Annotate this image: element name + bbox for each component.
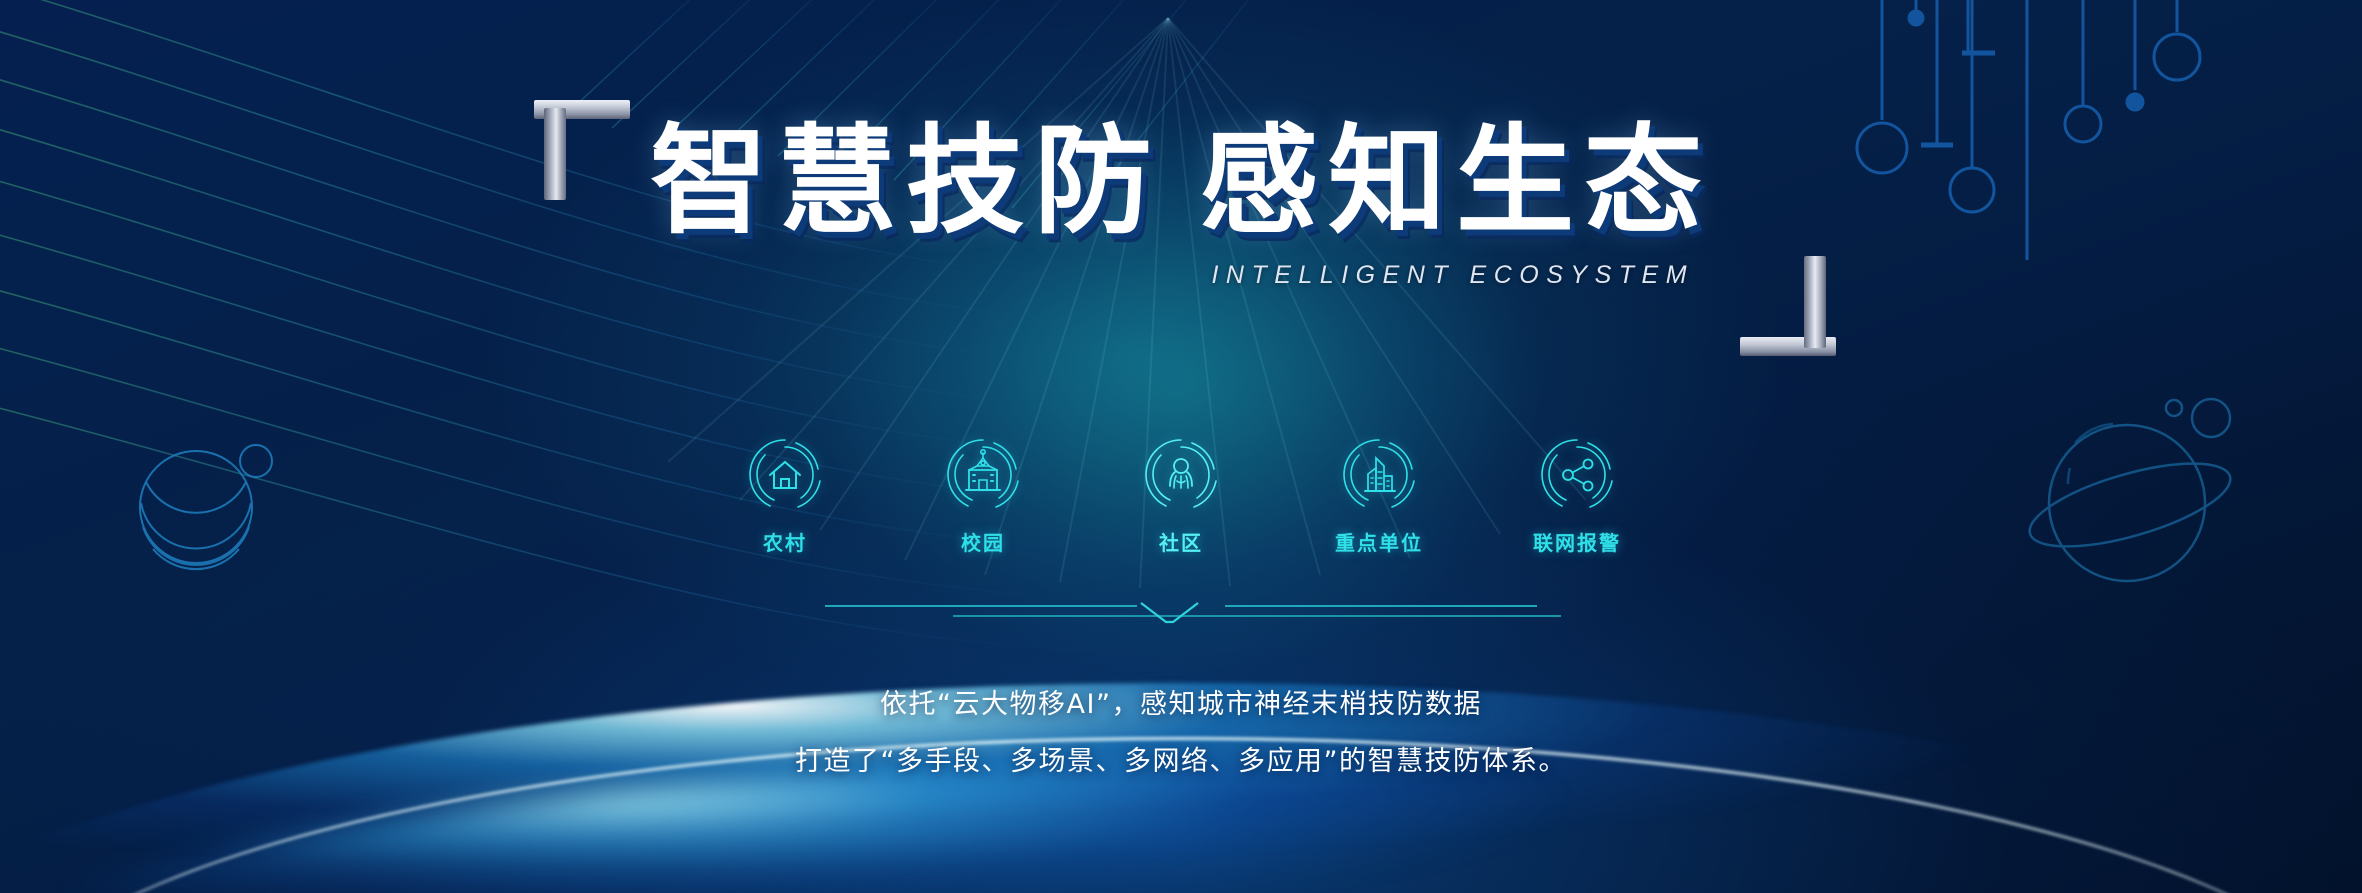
school-building-icon xyxy=(944,436,1022,514)
corner-bracket-top-left-icon xyxy=(534,100,630,192)
description-block: 依托“云大物移AI”，感知城市神经末梢技防数据 打造了“多手段、多场景、多网络、… xyxy=(0,685,2362,798)
page-title: 智慧技防感知生态 xyxy=(650,118,1712,245)
nav-item-networked-alarm[interactable]: 联网报警 xyxy=(1513,436,1641,556)
city-buildings-icon xyxy=(1340,436,1418,514)
house-icon xyxy=(746,436,824,514)
page-title-part-1: 智慧技防 xyxy=(650,112,1162,250)
page-title-part-2: 感知生态 xyxy=(1200,112,1712,250)
corner-bracket-bottom-right-icon xyxy=(1740,264,1836,356)
share-network-icon xyxy=(1538,436,1616,514)
banner-root: 智慧技防感知生态 INTELLIGENT ECOSYSTEM xyxy=(0,0,2362,893)
nav-item-community[interactable]: 社区 xyxy=(1117,436,1245,556)
page-subtitle: INTELLIGENT ECOSYSTEM xyxy=(650,261,1712,290)
nav-item-label: 社区 xyxy=(1117,527,1245,556)
title-block: 智慧技防感知生态 INTELLIGENT ECOSYSTEM xyxy=(0,118,2362,290)
v-notch-divider-icon xyxy=(801,588,1561,632)
nav-item-key-units[interactable]: 重点单位 xyxy=(1315,436,1443,556)
nav-item-campus[interactable]: 校园 xyxy=(919,436,1047,556)
nav-item-label: 重点单位 xyxy=(1315,527,1443,556)
nav-item-label: 校园 xyxy=(919,527,1047,556)
description-line-1: 依托“云大物移AI”，感知城市神经末梢技防数据 xyxy=(0,685,2362,726)
nav-item-rural[interactable]: 农村 xyxy=(721,436,849,556)
description-line-2: 打造了“多手段、多场景、多网络、多应用”的智慧技防体系。 xyxy=(0,742,2362,783)
scenario-nav: 农村 xyxy=(0,436,2362,556)
nav-item-label: 联网报警 xyxy=(1513,527,1641,556)
nav-item-label: 农村 xyxy=(721,527,849,556)
community-people-icon xyxy=(1142,436,1220,514)
